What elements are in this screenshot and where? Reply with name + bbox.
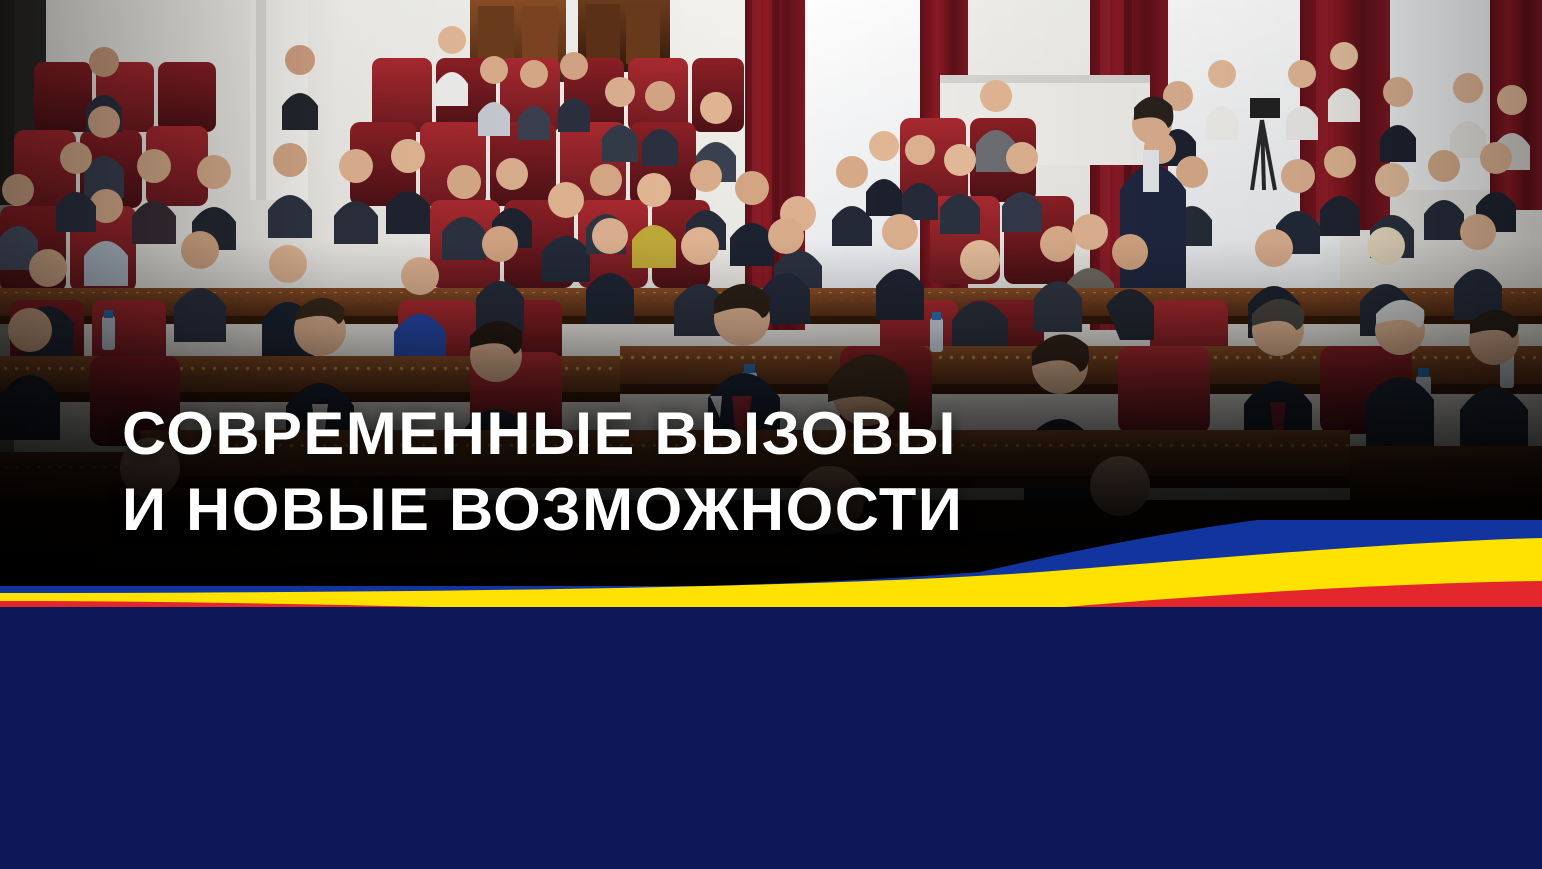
headline-line-1: СОВРЕМЕННЫЕ ВЫЗОВЫ (122, 396, 1326, 472)
caption-panel: На Дону разработают стратегию развития о… (0, 607, 1542, 869)
news-card: СОВРЕМЕННЫЕ ВЫЗОВЫ И НОВЫЕ ВОЗМОЖНОСТИ Н… (0, 0, 1542, 869)
